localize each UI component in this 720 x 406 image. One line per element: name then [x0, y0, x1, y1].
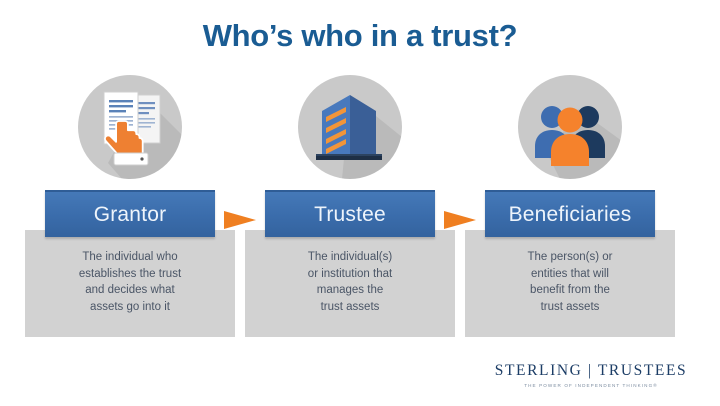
label-trustee: Trustee: [314, 203, 386, 227]
description-line: or institution that: [255, 266, 445, 283]
description-line: trust assets: [475, 299, 665, 316]
hand-pointing-documents-icon: [78, 75, 182, 179]
office-building-icon: [298, 75, 402, 179]
label-grantor: Grantor: [94, 203, 167, 227]
label-box-grantor[interactable]: Grantor: [45, 190, 215, 237]
description-line: assets go into it: [35, 299, 225, 316]
description-line: and decides what: [35, 282, 225, 299]
description-line: trust assets: [255, 299, 445, 316]
infographic-slide: Who’s who in a trust?: [0, 0, 720, 406]
icon-wrap-beneficiaries: [518, 75, 622, 179]
description-grantor: The individual who establishes the trust…: [35, 249, 225, 315]
description-beneficiaries: The person(s) or entities that will bene…: [475, 249, 665, 315]
description-line: The person(s) or: [475, 249, 665, 266]
description-line: The individual who: [35, 249, 225, 266]
page-title: Who’s who in a trust?: [0, 18, 720, 54]
icon-circle-beneficiaries: [518, 75, 622, 179]
description-line: benefit from the: [475, 282, 665, 299]
label-beneficiaries: Beneficiaries: [509, 203, 632, 227]
column-beneficiaries: Beneficiaries The person(s) or entities …: [460, 75, 680, 337]
brand-logo: STERLING | TRUSTEES THE POWER OF INDEPEN…: [486, 362, 696, 388]
label-box-trustee[interactable]: Trustee: [265, 190, 435, 237]
icon-circle-grantor: [78, 75, 182, 179]
icon-circle-trustee: [298, 75, 402, 179]
three-people-group-icon: [518, 75, 622, 179]
label-box-beneficiaries[interactable]: Beneficiaries: [485, 190, 655, 237]
description-line: establishes the trust: [35, 266, 225, 283]
arrow-right-icon: [224, 211, 256, 229]
logo-tagline: THE POWER OF INDEPENDENT THINKING®: [486, 383, 696, 388]
icon-wrap-trustee: [298, 75, 402, 179]
description-line: manages the: [255, 282, 445, 299]
arrow-right-icon: [444, 211, 476, 229]
column-trustee: Trustee The individual(s) or institution…: [240, 75, 460, 337]
description-line: The individual(s): [255, 249, 445, 266]
logo-wordmark: STERLING | TRUSTEES: [486, 362, 696, 380]
description-line: entities that will: [475, 266, 665, 283]
column-grantor: Grantor The individual who establishes t…: [20, 75, 240, 337]
description-trustee: The individual(s) or institution that ma…: [255, 249, 445, 315]
icon-wrap-grantor: [78, 75, 182, 179]
